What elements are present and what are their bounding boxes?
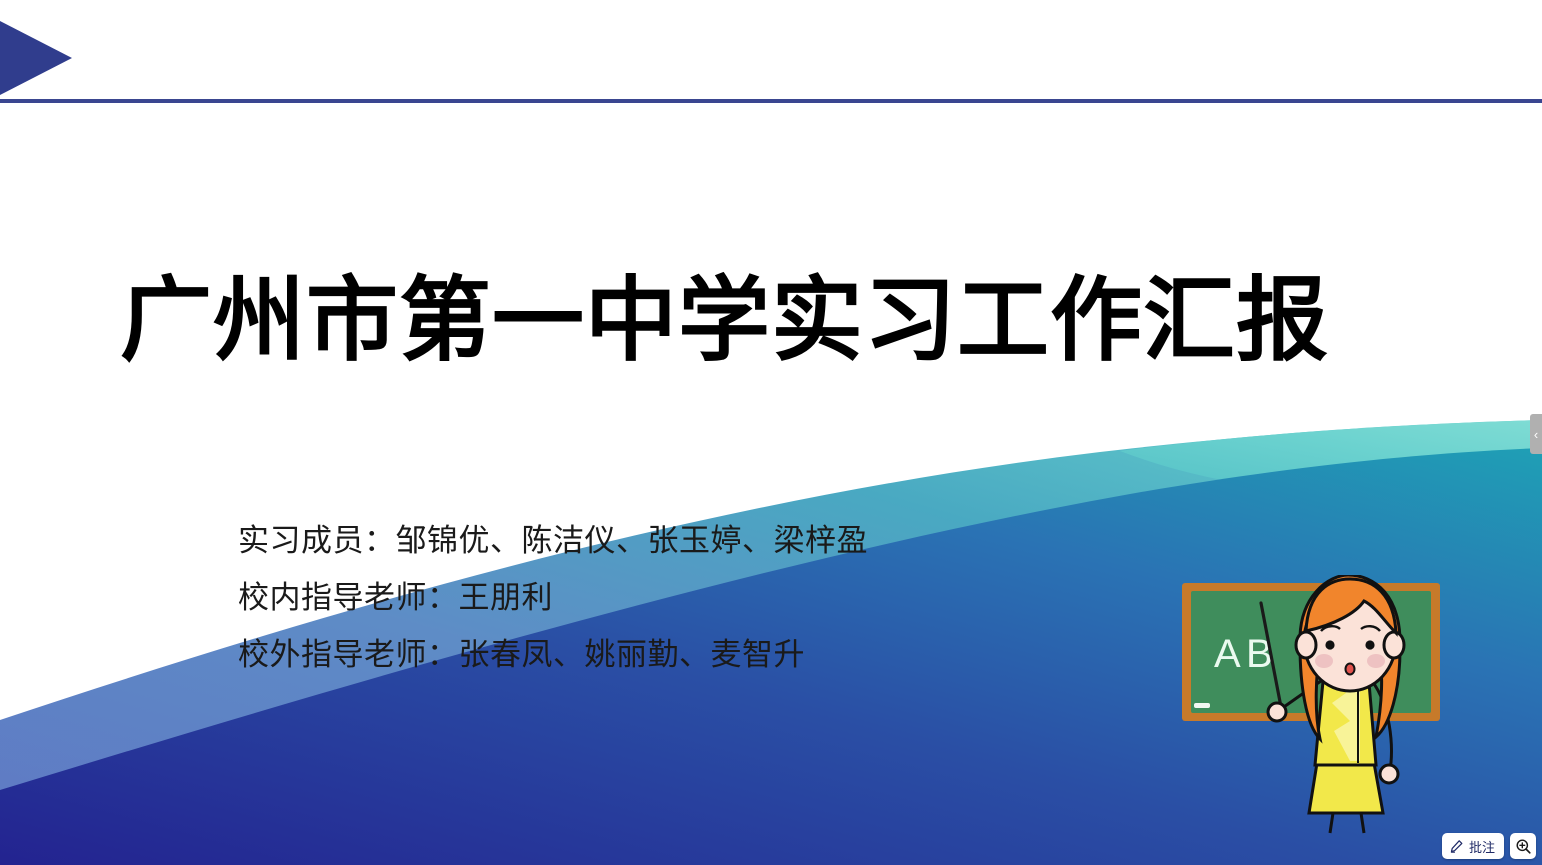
header-arrow-shape [0, 21, 72, 95]
body-line-members: 实习成员：邹锦优、陈洁仪、张玉婷、梁梓盈 [238, 512, 1138, 569]
blackboard-letter-a: A [1214, 632, 1241, 676]
teacher-illustration: A B [1178, 575, 1448, 837]
zoom-in-button[interactable] [1510, 833, 1536, 859]
chalk-mark [1194, 703, 1210, 708]
header-band [0, 0, 1542, 104]
teacher-ear-left [1296, 632, 1316, 658]
slide-subtitle-block: 实习成员：邹锦优、陈洁仪、张玉婷、梁梓盈 校内指导老师：王朋利 校外指导老师：张… [238, 512, 1138, 683]
teacher-cheek-left [1315, 654, 1333, 668]
presentation-slide: 广州市第一中学实习工作汇报 实习成员：邹锦优、陈洁仪、张玉婷、梁梓盈 校内指导老… [0, 0, 1542, 865]
teacher-eye-left [1325, 640, 1334, 649]
magnifier-plus-icon [1515, 838, 1532, 855]
teacher-ear-right [1384, 632, 1404, 658]
wave-teal-crest [1120, 420, 1542, 498]
body-line-internal-advisor: 校内指导老师：王朋利 [238, 569, 1138, 626]
teacher-hand-right [1380, 765, 1398, 783]
annotate-button[interactable]: 批注 [1442, 833, 1504, 859]
teacher-mouth [1346, 664, 1355, 675]
pen-icon [1449, 839, 1464, 854]
chevron-left-icon: ‹ [1534, 428, 1538, 441]
body-line-external-advisor: 校外指导老师：张春凤、姚丽勤、麦智升 [238, 626, 1138, 683]
page-title: 广州市第一中学实习工作汇报 [120, 272, 1420, 371]
header-divider-line [0, 99, 1542, 103]
teacher-eye-right [1365, 640, 1374, 649]
teacher-leg-right [1361, 813, 1364, 833]
teacher-skirt [1309, 763, 1383, 813]
teacher-hand-left [1268, 703, 1286, 721]
teacher-cheek-right [1367, 654, 1385, 668]
teacher-leg-left [1330, 813, 1333, 833]
slide-toolbar: 批注 [1442, 833, 1536, 859]
annotate-label: 批注 [1469, 837, 1495, 856]
panel-collapse-handle[interactable]: ‹ [1530, 414, 1542, 454]
